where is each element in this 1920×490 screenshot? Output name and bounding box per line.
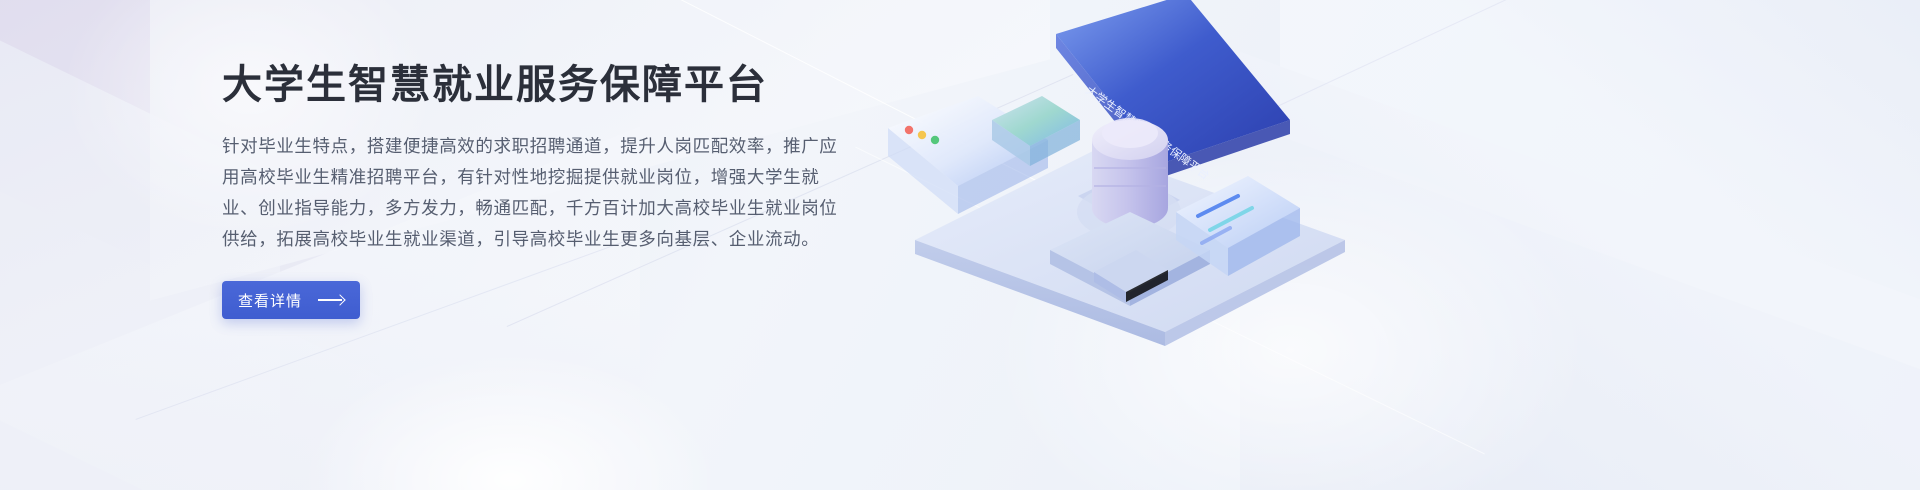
description-line: 业、创业指导能力，多方发力，畅通匹配，千方百计加大高校毕业生就业岗位 (222, 193, 847, 224)
description-line: 用高校毕业生精准招聘平台，有针对性地挖掘提供就业岗位，增强大学生就 (222, 162, 847, 193)
arrow-right-icon (318, 295, 344, 305)
window-dot-red (905, 126, 913, 134)
view-details-label: 查看详情 (238, 290, 302, 311)
hero-content: 大学生智慧就业服务保障平台 针对毕业生特点，搭建便捷高效的求职招聘通道，提升人岗… (222, 62, 862, 319)
hero-illustration: 大学生智慧就业服务保障平台 (880, 0, 1400, 360)
hero-description: 针对毕业生特点，搭建便捷高效的求职招聘通道，提升人岗匹配效率，推广应 用高校毕业… (222, 131, 847, 255)
description-line: 供给，拓展高校毕业生就业渠道，引导高校毕业生更多向基层、企业流动。 (222, 224, 847, 255)
window-dot-green (931, 136, 939, 144)
background-glow-1 (300, 350, 720, 490)
page-title: 大学生智慧就业服务保障平台 (222, 62, 862, 109)
window-dot-yellow (918, 131, 926, 139)
description-line: 针对毕业生特点，搭建便捷高效的求职招聘通道，提升人岗匹配效率，推广应 (222, 131, 847, 162)
hero-banner: 大学生智慧就业服务保障平台 针对毕业生特点，搭建便捷高效的求职招聘通道，提升人岗… (0, 0, 1920, 490)
view-details-button[interactable]: 查看详情 (222, 281, 360, 319)
